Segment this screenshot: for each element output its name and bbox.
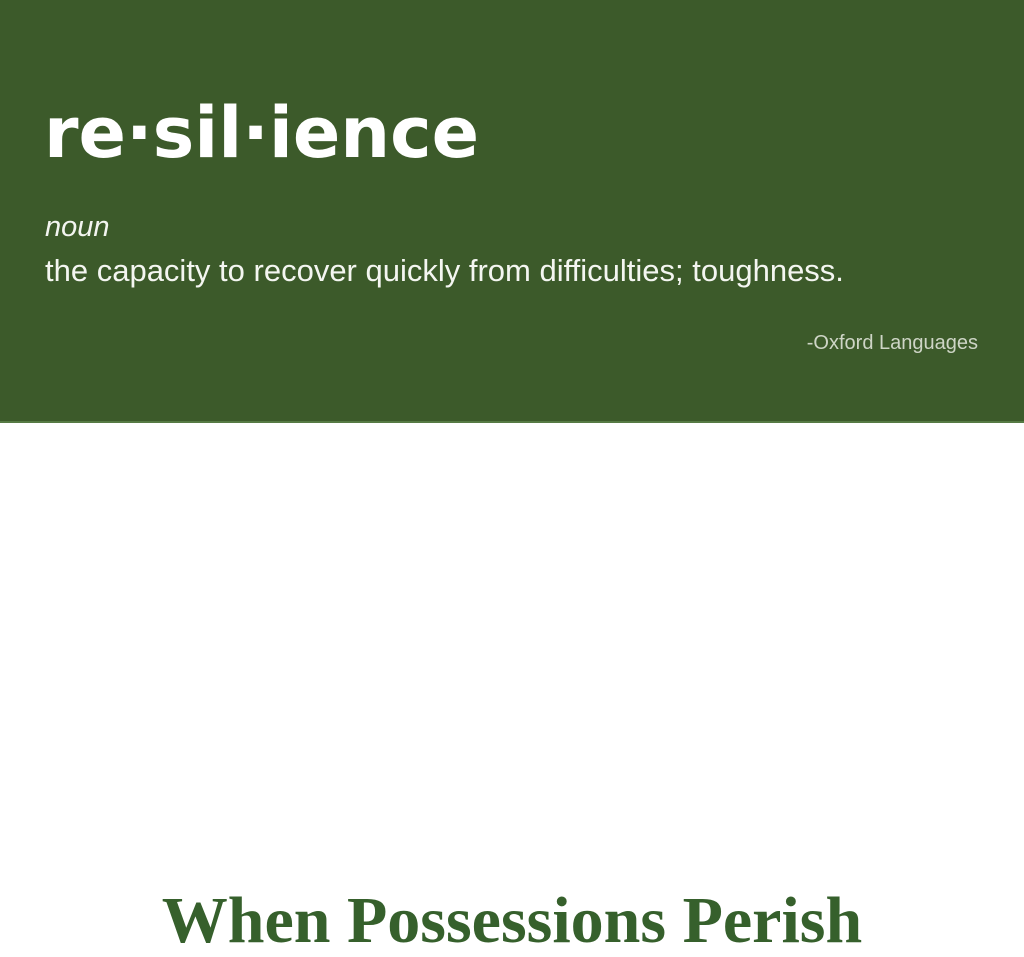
presentation-slide: re·sil·ience noun the capacity to recove… [0,0,1024,576]
definition-text: the capacity to recover quickly from dif… [45,253,844,289]
definition-panel: re·sil·ience noun the capacity to recove… [0,0,1024,423]
slide-title: When Possessions Perish [0,888,1024,954]
headword: re·sil·ience [44,98,479,168]
attribution-source: -Oxford Languages [807,333,978,353]
part-of-speech-label: noun [45,213,110,242]
title-band: When Possessions Perish [0,425,1024,576]
